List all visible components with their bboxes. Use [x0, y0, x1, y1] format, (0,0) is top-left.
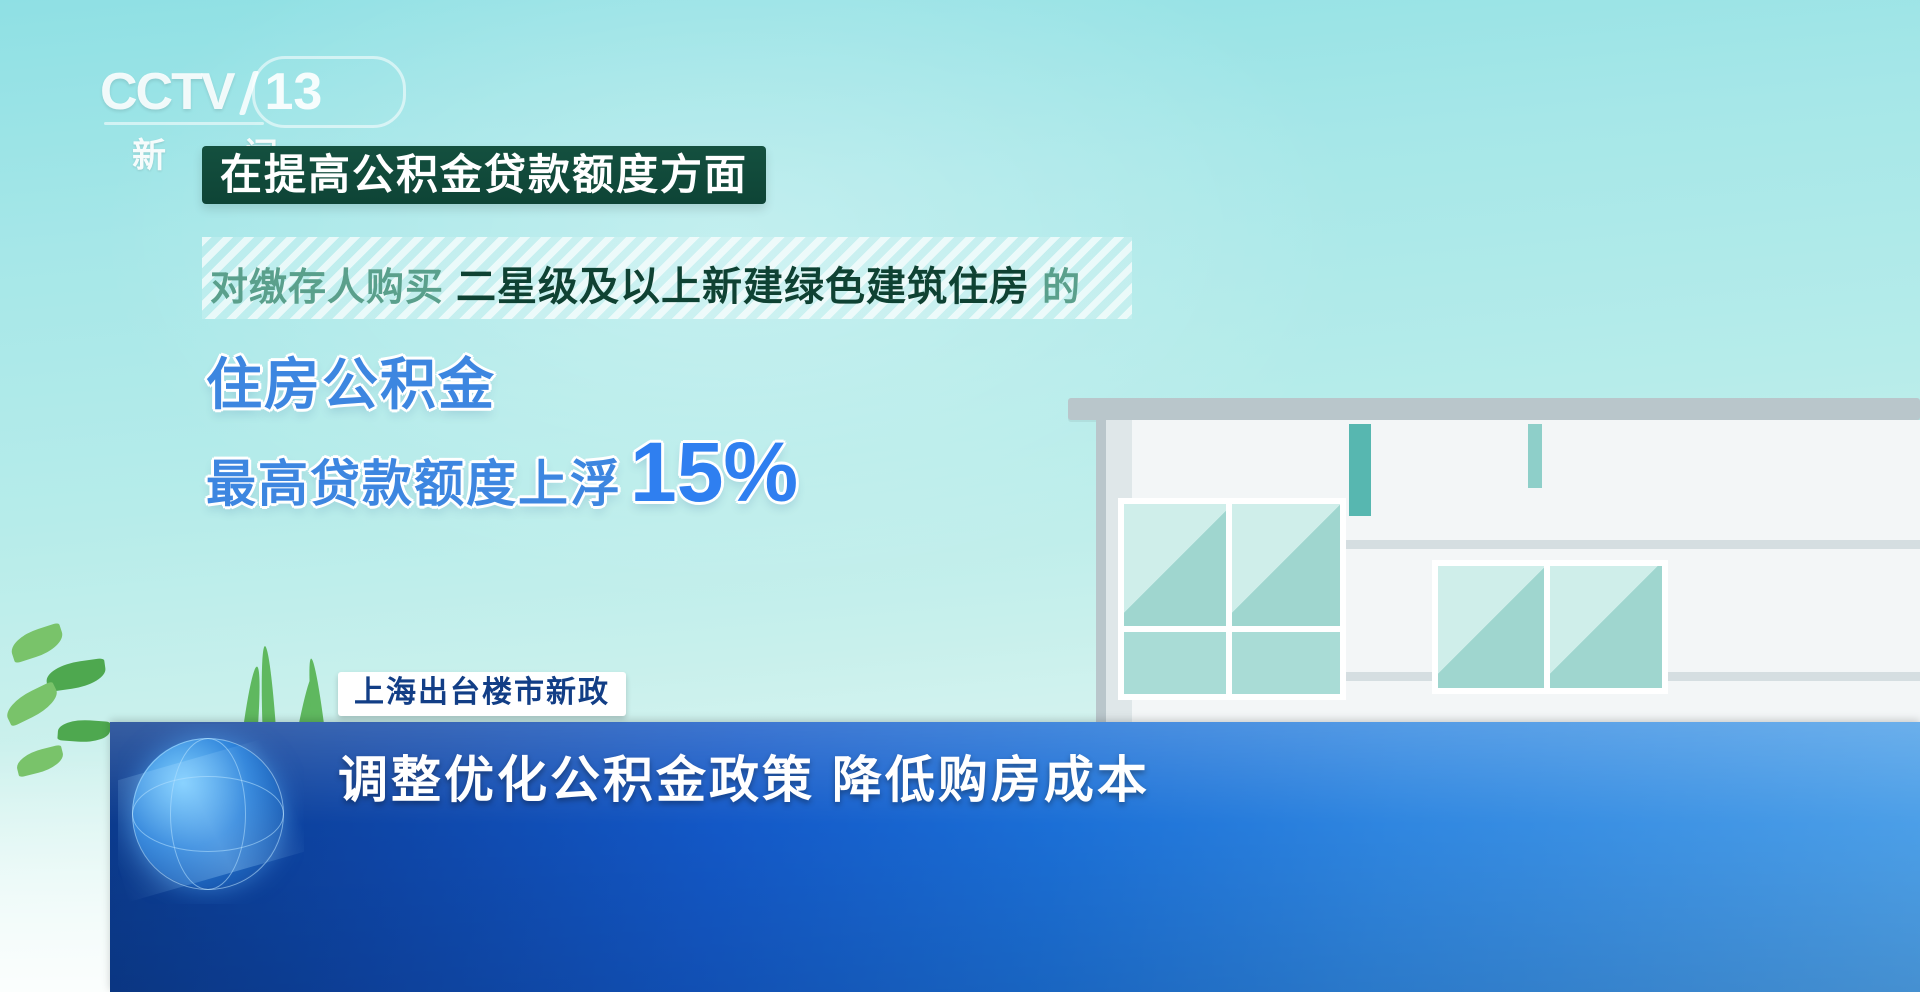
building-window — [1118, 498, 1238, 638]
logo-mark-text: CCTV — [100, 63, 234, 121]
lower-third-kicker: 上海出台楼市新政 — [338, 672, 626, 716]
line2-suffix: 的 — [1042, 256, 1081, 311]
lower-third-headline: 调整优化公积金政策 降低购房成本 — [338, 740, 1150, 812]
headline-banner: 在提高公积金贷款额度方面 — [202, 146, 766, 204]
logo-ring — [252, 56, 406, 128]
building-window — [1544, 560, 1668, 694]
building-roof-bar — [1068, 398, 1920, 420]
building-teal-accent — [1349, 424, 1371, 516]
lower-third-kicker-text: 上海出台楼市新政 — [354, 678, 610, 708]
line2-prefix: 对缴存人购买 — [210, 256, 444, 311]
body-line-2: 对缴存人购买 二星级及以上新建绿色建筑住房 的 — [210, 258, 1081, 308]
line2-emphasis: 二星级及以上新建绿色建筑住房 — [456, 254, 1030, 312]
building-window — [1226, 498, 1346, 638]
building-teal-accent-2 — [1528, 424, 1542, 488]
building-window — [1118, 626, 1238, 700]
body-line-4: 最高贷款额度上浮 15% — [206, 424, 798, 521]
building-window — [1432, 560, 1556, 694]
line4-text: 最高贷款额度上浮 — [206, 444, 622, 516]
headline-banner-text: 在提高公积金贷款额度方面 — [220, 154, 748, 196]
building-window — [1226, 626, 1346, 700]
broadcast-frame: CCTV 13 新 闻 在提高公积金贷款额度方面 对缴存人购买 二星级及以上新建… — [0, 0, 1920, 992]
line4-percent-value: 15% — [630, 424, 798, 521]
body-line-3: 住房公积金 — [206, 340, 496, 421]
globe-light-streak — [118, 726, 304, 902]
logo-underline — [104, 122, 264, 125]
globe-graphic — [118, 724, 304, 904]
